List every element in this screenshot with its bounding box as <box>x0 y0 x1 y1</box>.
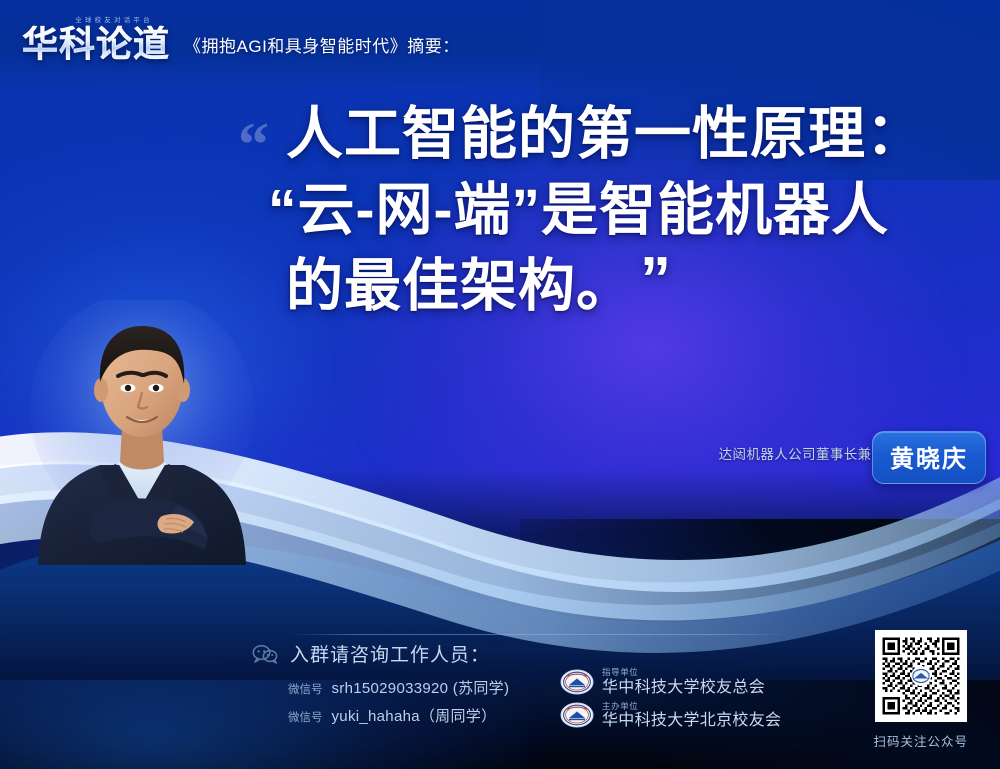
header-subtitle: 《拥抱AGI和具身智能时代》摘要： <box>184 32 460 62</box>
header: 全球校友对话平台 华科论道 《拥抱AGI和具身智能时代》摘要： <box>22 14 460 62</box>
quote-line-3: 的最佳架构。” <box>286 248 958 324</box>
contact-label: 微信号 <box>288 709 323 725</box>
org-kind: 主办单位 <box>602 702 781 711</box>
poster-root: 全球校友对话平台 华科论道 《拥抱AGI和具身智能时代》摘要： “ 人工智能的第… <box>0 0 1000 769</box>
brand-logo[interactable]: 全球校友对话平台 华科论道 <box>22 14 170 62</box>
organizations: 指导单位 华中科技大学校友总会 主办单位 华中科技大学北京校友会 <box>560 668 781 735</box>
quote-close-mark: ” <box>640 242 672 318</box>
org-row: 主办单位 华中科技大学北京校友会 <box>560 702 781 730</box>
contact-row: 微信号 yuki_hahaha（周同学） <box>288 705 509 726</box>
contact-value[interactable]: yuki_hahaha（周同学） <box>332 705 497 726</box>
org-name: 华中科技大学校友总会 <box>602 680 765 696</box>
qr-code-icon[interactable] <box>875 630 967 722</box>
contact-value[interactable]: srh15029033920 (苏同学) <box>332 677 510 698</box>
wechat-icon <box>252 644 278 664</box>
footer-contact-section: 入群请咨询工作人员： 微信号 srh15029033920 (苏同学) 微信号 … <box>252 640 509 726</box>
qr-section: 扫码关注公众号 <box>873 630 968 750</box>
contact-label: 微信号 <box>288 681 323 697</box>
hust-seal-icon <box>560 702 594 728</box>
attribution: 达闼机器人公司董事长兼CEO 黄晓庆 <box>719 443 902 463</box>
footer-divider <box>288 634 788 635</box>
quote-block: “ 人工智能的第一性原理： “云-网-端”是智能机器人 的最佳架构。” <box>238 96 958 324</box>
quote-line-2: “云-网-端”是智能机器人 <box>268 172 958 248</box>
org-kind: 指导单位 <box>602 668 765 677</box>
hust-seal-icon <box>560 669 594 695</box>
quote-line-1: 人工智能的第一性原理： <box>286 96 958 172</box>
org-name: 华中科技大学北京校友会 <box>602 713 781 729</box>
org-row: 指导单位 华中科技大学校友总会 <box>560 668 781 696</box>
logo-text: 华科论道 <box>22 26 170 62</box>
speaker-portrait <box>28 300 256 565</box>
quote-open-mark: “ <box>238 114 269 176</box>
qr-caption: 扫码关注公众号 <box>873 731 968 750</box>
quote-line-3-text: 的最佳架构。 <box>286 254 634 318</box>
footer-title: 入群请咨询工作人员： <box>290 640 490 667</box>
speaker-name-badge: 黄晓庆 <box>872 431 986 484</box>
contact-row: 微信号 srh15029033920 (苏同学) <box>288 677 509 698</box>
